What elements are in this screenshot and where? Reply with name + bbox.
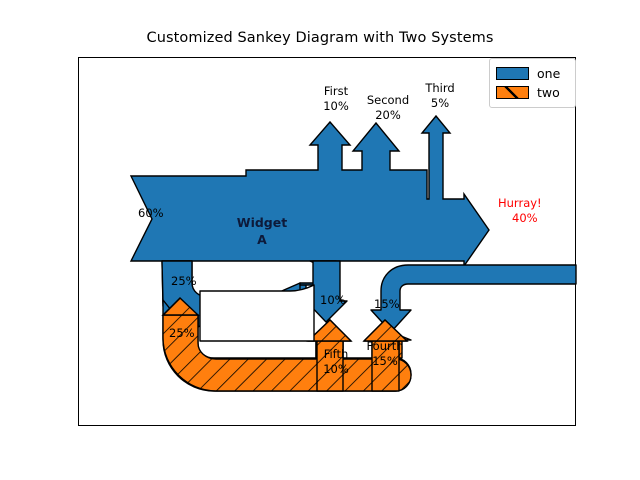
flow-15-blue-into-fourth xyxy=(371,265,576,332)
label-input-60: 60% xyxy=(138,206,164,220)
label-fourth-pct: 15% xyxy=(372,354,398,368)
label-fifth-pct: 10% xyxy=(323,362,349,376)
widget-a-body xyxy=(131,116,489,266)
legend: one two xyxy=(489,58,576,108)
label-third-pct: 5% xyxy=(431,96,449,110)
legend-swatch-one xyxy=(496,67,529,80)
arrowhead-fourth xyxy=(364,320,407,341)
legend-label-two: two xyxy=(537,85,560,100)
label-third: Third xyxy=(424,81,454,95)
label-widget-a: Widget xyxy=(237,215,287,230)
label-fourth-flow-pct: 15% xyxy=(374,297,400,311)
label-first-pct: 10% xyxy=(323,99,349,113)
label-hurray: Hurray! xyxy=(498,196,542,210)
label-second-pct: 20% xyxy=(375,108,401,122)
label-fifth-flow-pct: 10% xyxy=(320,293,346,307)
legend-swatch-two xyxy=(496,86,529,99)
legend-item-two[interactable]: two xyxy=(496,83,569,102)
label-link-in-25: 25% xyxy=(169,326,195,340)
system-one-flows xyxy=(131,116,576,332)
label-first: First xyxy=(324,84,349,98)
legend-label-one: one xyxy=(537,66,560,81)
label-widget-a-sub: A xyxy=(257,232,267,247)
sankey-figure: Customized Sankey Diagram with Two Syste… xyxy=(0,0,640,480)
label-fourth: Fourth xyxy=(366,339,403,353)
label-fifth: Fifth xyxy=(324,347,349,361)
legend-item-one[interactable]: one xyxy=(496,64,569,83)
label-link-out-25: 25% xyxy=(171,274,197,288)
label-second: Second xyxy=(367,93,409,107)
label-hurray-pct: 40% xyxy=(512,211,538,225)
system-two-inner-cutout xyxy=(200,285,314,341)
